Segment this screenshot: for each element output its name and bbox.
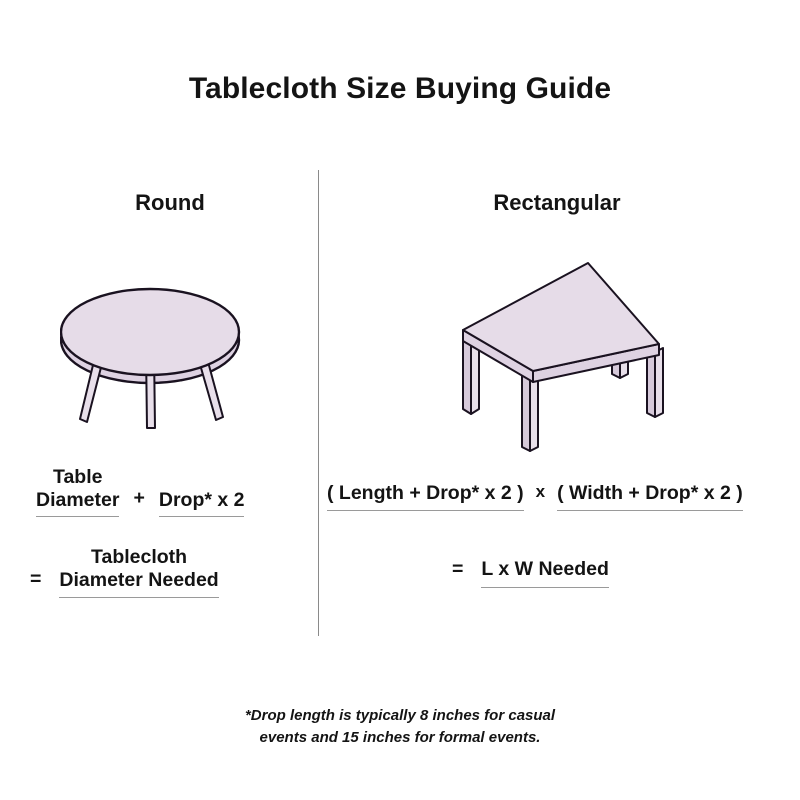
rectangular-result: = L x W Needed <box>452 558 609 588</box>
round-equals-sign: = <box>30 568 59 598</box>
rectangular-table-illustration <box>440 248 690 458</box>
round-term-drop: Drop* x 2 <box>159 489 245 518</box>
column-heading-round: Round <box>48 190 292 216</box>
round-formula: Table Diameter + Drop* x 2 <box>36 466 244 517</box>
footnote: *Drop length is typically 8 inches for c… <box>0 705 800 749</box>
rect-result-text: L x W Needed <box>481 558 609 588</box>
rect-equals-sign: = <box>452 558 481 588</box>
round-result-text: Tablecloth Diameter Needed <box>59 546 218 598</box>
rect-term-width: ( Width + Drop* x 2 ) <box>557 482 743 511</box>
rectangular-formula: ( Length + Drop* x 2 ) x ( Width + Drop*… <box>327 482 743 511</box>
tablecloth-size-buying-guide: Tablecloth Size Buying Guide Round Table… <box>0 0 800 800</box>
round-result: = Tablecloth Diameter Needed <box>30 546 219 598</box>
rect-term-length: ( Length + Drop* x 2 ) <box>327 482 524 511</box>
rect-formula-operator: x <box>524 482 557 511</box>
round-term-table-diameter: Table Diameter <box>36 466 119 517</box>
column-divider <box>318 170 319 636</box>
column-heading-rectangular: Rectangular <box>342 190 772 216</box>
page-title: Tablecloth Size Buying Guide <box>0 72 800 106</box>
round-formula-operator: + <box>119 487 158 517</box>
round-table-illustration <box>60 232 310 437</box>
